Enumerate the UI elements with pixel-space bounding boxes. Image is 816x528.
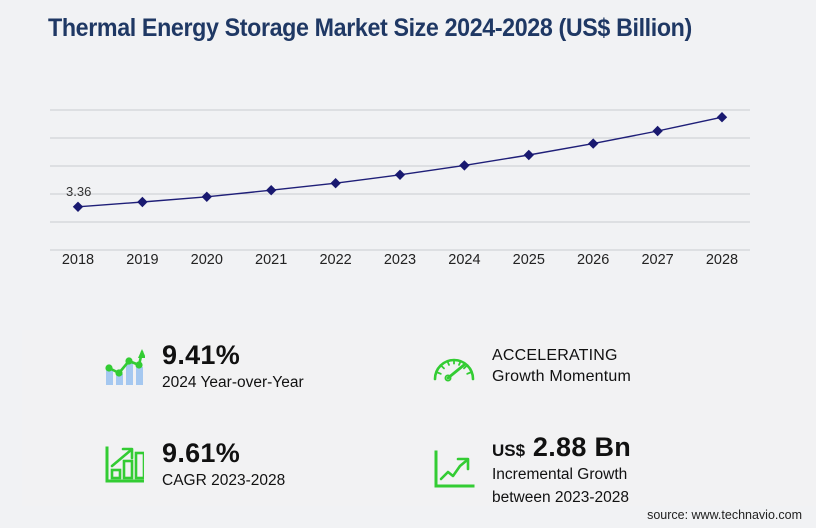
x-axis-tick-label: 2028: [692, 252, 752, 268]
stat-value: US$ 2.88 Bn: [492, 432, 631, 462]
stat-card-growth-momentum: ACCELERATING Growth Momentum: [430, 342, 631, 390]
stat-value: 9.61%: [162, 438, 285, 468]
data-point-marker: [73, 202, 83, 212]
series-line: [78, 117, 722, 207]
x-axis-tick-label: 2023: [370, 252, 430, 268]
line-chart-arrow-icon: [430, 446, 478, 494]
data-point-marker: [202, 192, 212, 202]
infographic-root: Thermal Energy Storage Market Size 2024-…: [0, 0, 816, 528]
stat-caption: Incremental Growth: [492, 465, 631, 485]
data-point-marker: [524, 150, 534, 160]
data-point-marker: [330, 178, 340, 188]
stat-card-cagr: 9.61% CAGR 2023-2028: [100, 438, 285, 491]
series-markers: [73, 112, 727, 212]
stat-card-year-over-year: 9.41% 2024 Year-over-Year: [100, 340, 304, 393]
x-axis-tick-labels: 2018201920202021202220232024202520262027…: [0, 252, 816, 280]
data-point-label-2018: 3.36: [66, 184, 91, 199]
stat-unit: US$: [492, 441, 525, 460]
x-axis-tick-label: 2020: [177, 252, 237, 268]
stat-caption: 2024 Year-over-Year: [162, 373, 304, 393]
data-point-marker: [717, 112, 727, 122]
bar-chart-arrow-icon: [100, 441, 148, 489]
bar-line-growth-icon: [100, 343, 148, 391]
speedometer-icon: [430, 342, 478, 390]
x-axis-tick-label: 2018: [48, 252, 108, 268]
data-point-marker: [395, 170, 405, 180]
page-title: Thermal Energy Storage Market Size 2024-…: [48, 12, 699, 45]
data-point-marker: [588, 138, 598, 148]
x-axis-tick-label: 2026: [563, 252, 623, 268]
stat-card-incremental-growth: US$ 2.88 Bn Incremental Growth between 2…: [430, 432, 631, 509]
stat-caption-2: between 2023-2028: [492, 488, 631, 508]
stat-amount: 2.88 Bn: [533, 432, 631, 462]
data-point-marker: [652, 126, 662, 136]
x-axis-tick-label: 2019: [112, 252, 172, 268]
x-axis-tick-label: 2027: [628, 252, 688, 268]
x-axis-tick-label: 2025: [499, 252, 559, 268]
stat-value: 9.41%: [162, 340, 304, 370]
x-axis-tick-label: 2021: [241, 252, 301, 268]
data-point-marker: [459, 160, 469, 170]
x-axis-tick-label: 2024: [434, 252, 494, 268]
data-point-marker: [137, 197, 147, 207]
stat-caption: Growth Momentum: [492, 366, 631, 387]
stat-caption: CAGR 2023-2028: [162, 471, 285, 491]
x-axis-tick-label: 2022: [306, 252, 366, 268]
stat-value: ACCELERATING: [492, 345, 631, 366]
source-attribution: source: www.technavio.com: [647, 508, 802, 522]
